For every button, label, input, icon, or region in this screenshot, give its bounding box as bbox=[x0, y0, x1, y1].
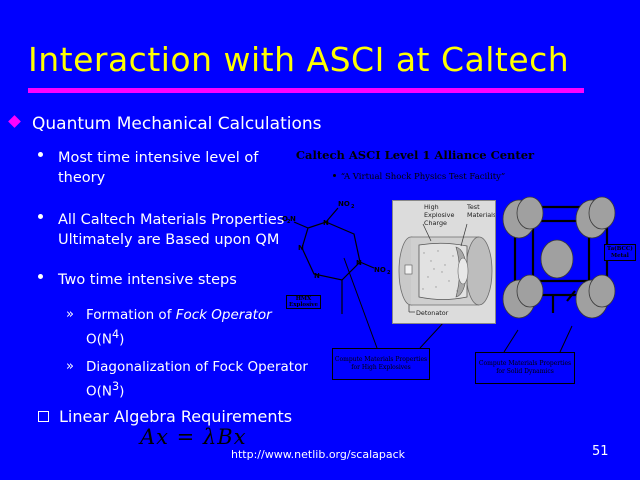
svg-text:Detonator: Detonator bbox=[416, 309, 449, 317]
ta-bcc-label-box: Ta(BCC) Metal bbox=[604, 244, 636, 261]
round-bullet-icon bbox=[38, 274, 43, 279]
svg-text:Test: Test bbox=[466, 203, 480, 211]
slide-canvas: Interaction with ASCI at Caltech Quantum… bbox=[0, 0, 640, 480]
title-underline-rule bbox=[28, 88, 584, 93]
diagram-title: Caltech ASCI Level 1 Alliance Center bbox=[292, 148, 538, 162]
svg-text:Materials: Materials bbox=[467, 211, 495, 219]
sub-item-text: Formation of bbox=[86, 307, 176, 323]
compute-box-solid-dynamics[interactable]: Compute Materials Properties for Solid D… bbox=[475, 352, 575, 384]
hmx-label-line2: Explosive bbox=[289, 302, 318, 308]
hmx-molecule-diagram: N N N N NO 2 NO 2 O 2 N HMX Explosive bbox=[282, 188, 394, 328]
sub-item-text: Diagonalization of Fock Operator bbox=[86, 359, 308, 375]
svg-text:N: N bbox=[323, 219, 329, 227]
sub-item-order: O(N bbox=[86, 332, 112, 348]
svg-text:N: N bbox=[290, 215, 296, 223]
list-item-most-time-intensive[interactable]: Most time intensive level of theory bbox=[38, 148, 308, 188]
svg-text:NO: NO bbox=[338, 200, 350, 208]
double-chevron-bullet-icon: » bbox=[66, 305, 74, 324]
double-chevron-bullet-icon: » bbox=[66, 357, 74, 376]
page-number: 51 bbox=[592, 444, 609, 459]
svg-text:2: 2 bbox=[351, 204, 355, 210]
hmx-label-box: HMX Explosive bbox=[286, 295, 321, 309]
shock-physics-photo: High Explosive Charge Test Materials Det… bbox=[392, 200, 496, 324]
alliance-center-diagram: Caltech ASCI Level 1 Alliance Center “A … bbox=[282, 140, 640, 390]
round-bullet-icon bbox=[333, 174, 336, 177]
compute-box-high-explosives[interactable]: Compute Materials Properties for High Ex… bbox=[332, 348, 430, 380]
svg-text:NO: NO bbox=[374, 266, 386, 274]
svg-text:N: N bbox=[298, 244, 304, 252]
list-item-label: Most time intensive level of theory bbox=[58, 148, 308, 188]
outline-item-linear-algebra-requirements[interactable]: Linear Algebra Requirements bbox=[38, 407, 292, 426]
equation-generalized-eigenproblem: Ax = λBx bbox=[140, 425, 247, 449]
round-bullet-icon bbox=[38, 152, 43, 157]
page-title: Interaction with ASCI at Caltech bbox=[28, 40, 612, 80]
list-item-all-caltech-materials[interactable]: All Caltech Materials Properties Ultimat… bbox=[38, 210, 308, 250]
diamond-bullet-icon bbox=[8, 115, 21, 128]
round-bullet-icon bbox=[38, 214, 43, 219]
sub-item-text-italic: Fock Operator bbox=[176, 307, 272, 323]
svg-text:Charge: Charge bbox=[424, 219, 447, 227]
ta-bcc-label-line1: Ta(BCC) bbox=[607, 246, 633, 252]
compute-box-line2: for Solid Dynamics bbox=[496, 368, 554, 375]
ta-bcc-label-line2: Metal bbox=[611, 253, 629, 259]
outline-level1-label: Quantum Mechanical Calculations bbox=[32, 114, 322, 134]
hollow-square-bullet-icon bbox=[38, 411, 49, 422]
sub-item-order-close: ) bbox=[119, 384, 124, 400]
compute-box-line1: Compute Materials Properties bbox=[479, 360, 571, 367]
diagram-subtitle-text: “A Virtual Shock Physics Test Facility” bbox=[341, 172, 506, 182]
svg-text:Explosive: Explosive bbox=[424, 211, 454, 219]
ta-bcc-lattice-diagram bbox=[497, 195, 640, 330]
svg-text:High: High bbox=[424, 203, 439, 211]
outline-item-label: Linear Algebra Requirements bbox=[59, 407, 292, 426]
footer-url[interactable]: http://www.netlib.org/scalapack bbox=[231, 448, 405, 461]
list-item-label: Two time intensive steps bbox=[58, 270, 308, 290]
svg-text:2: 2 bbox=[387, 270, 391, 276]
compute-box-line2: for High Explosives bbox=[351, 364, 411, 371]
list-item-label: All Caltech Materials Properties Ultimat… bbox=[58, 210, 308, 250]
sub-item-order: O(N bbox=[86, 384, 112, 400]
outline-level1-quantum-mechanical-calculations[interactable]: Quantum Mechanical Calculations bbox=[10, 114, 322, 134]
diagram-subtitle: “A Virtual Shock Physics Test Facility” bbox=[304, 172, 534, 182]
svg-text:N: N bbox=[356, 259, 362, 267]
list-item-two-time-intensive-steps[interactable]: Two time intensive steps bbox=[38, 270, 308, 290]
sub-item-order-close: ) bbox=[119, 332, 124, 348]
compute-box-line1: Compute Materials Properties bbox=[335, 356, 427, 363]
svg-text:N: N bbox=[314, 272, 320, 280]
